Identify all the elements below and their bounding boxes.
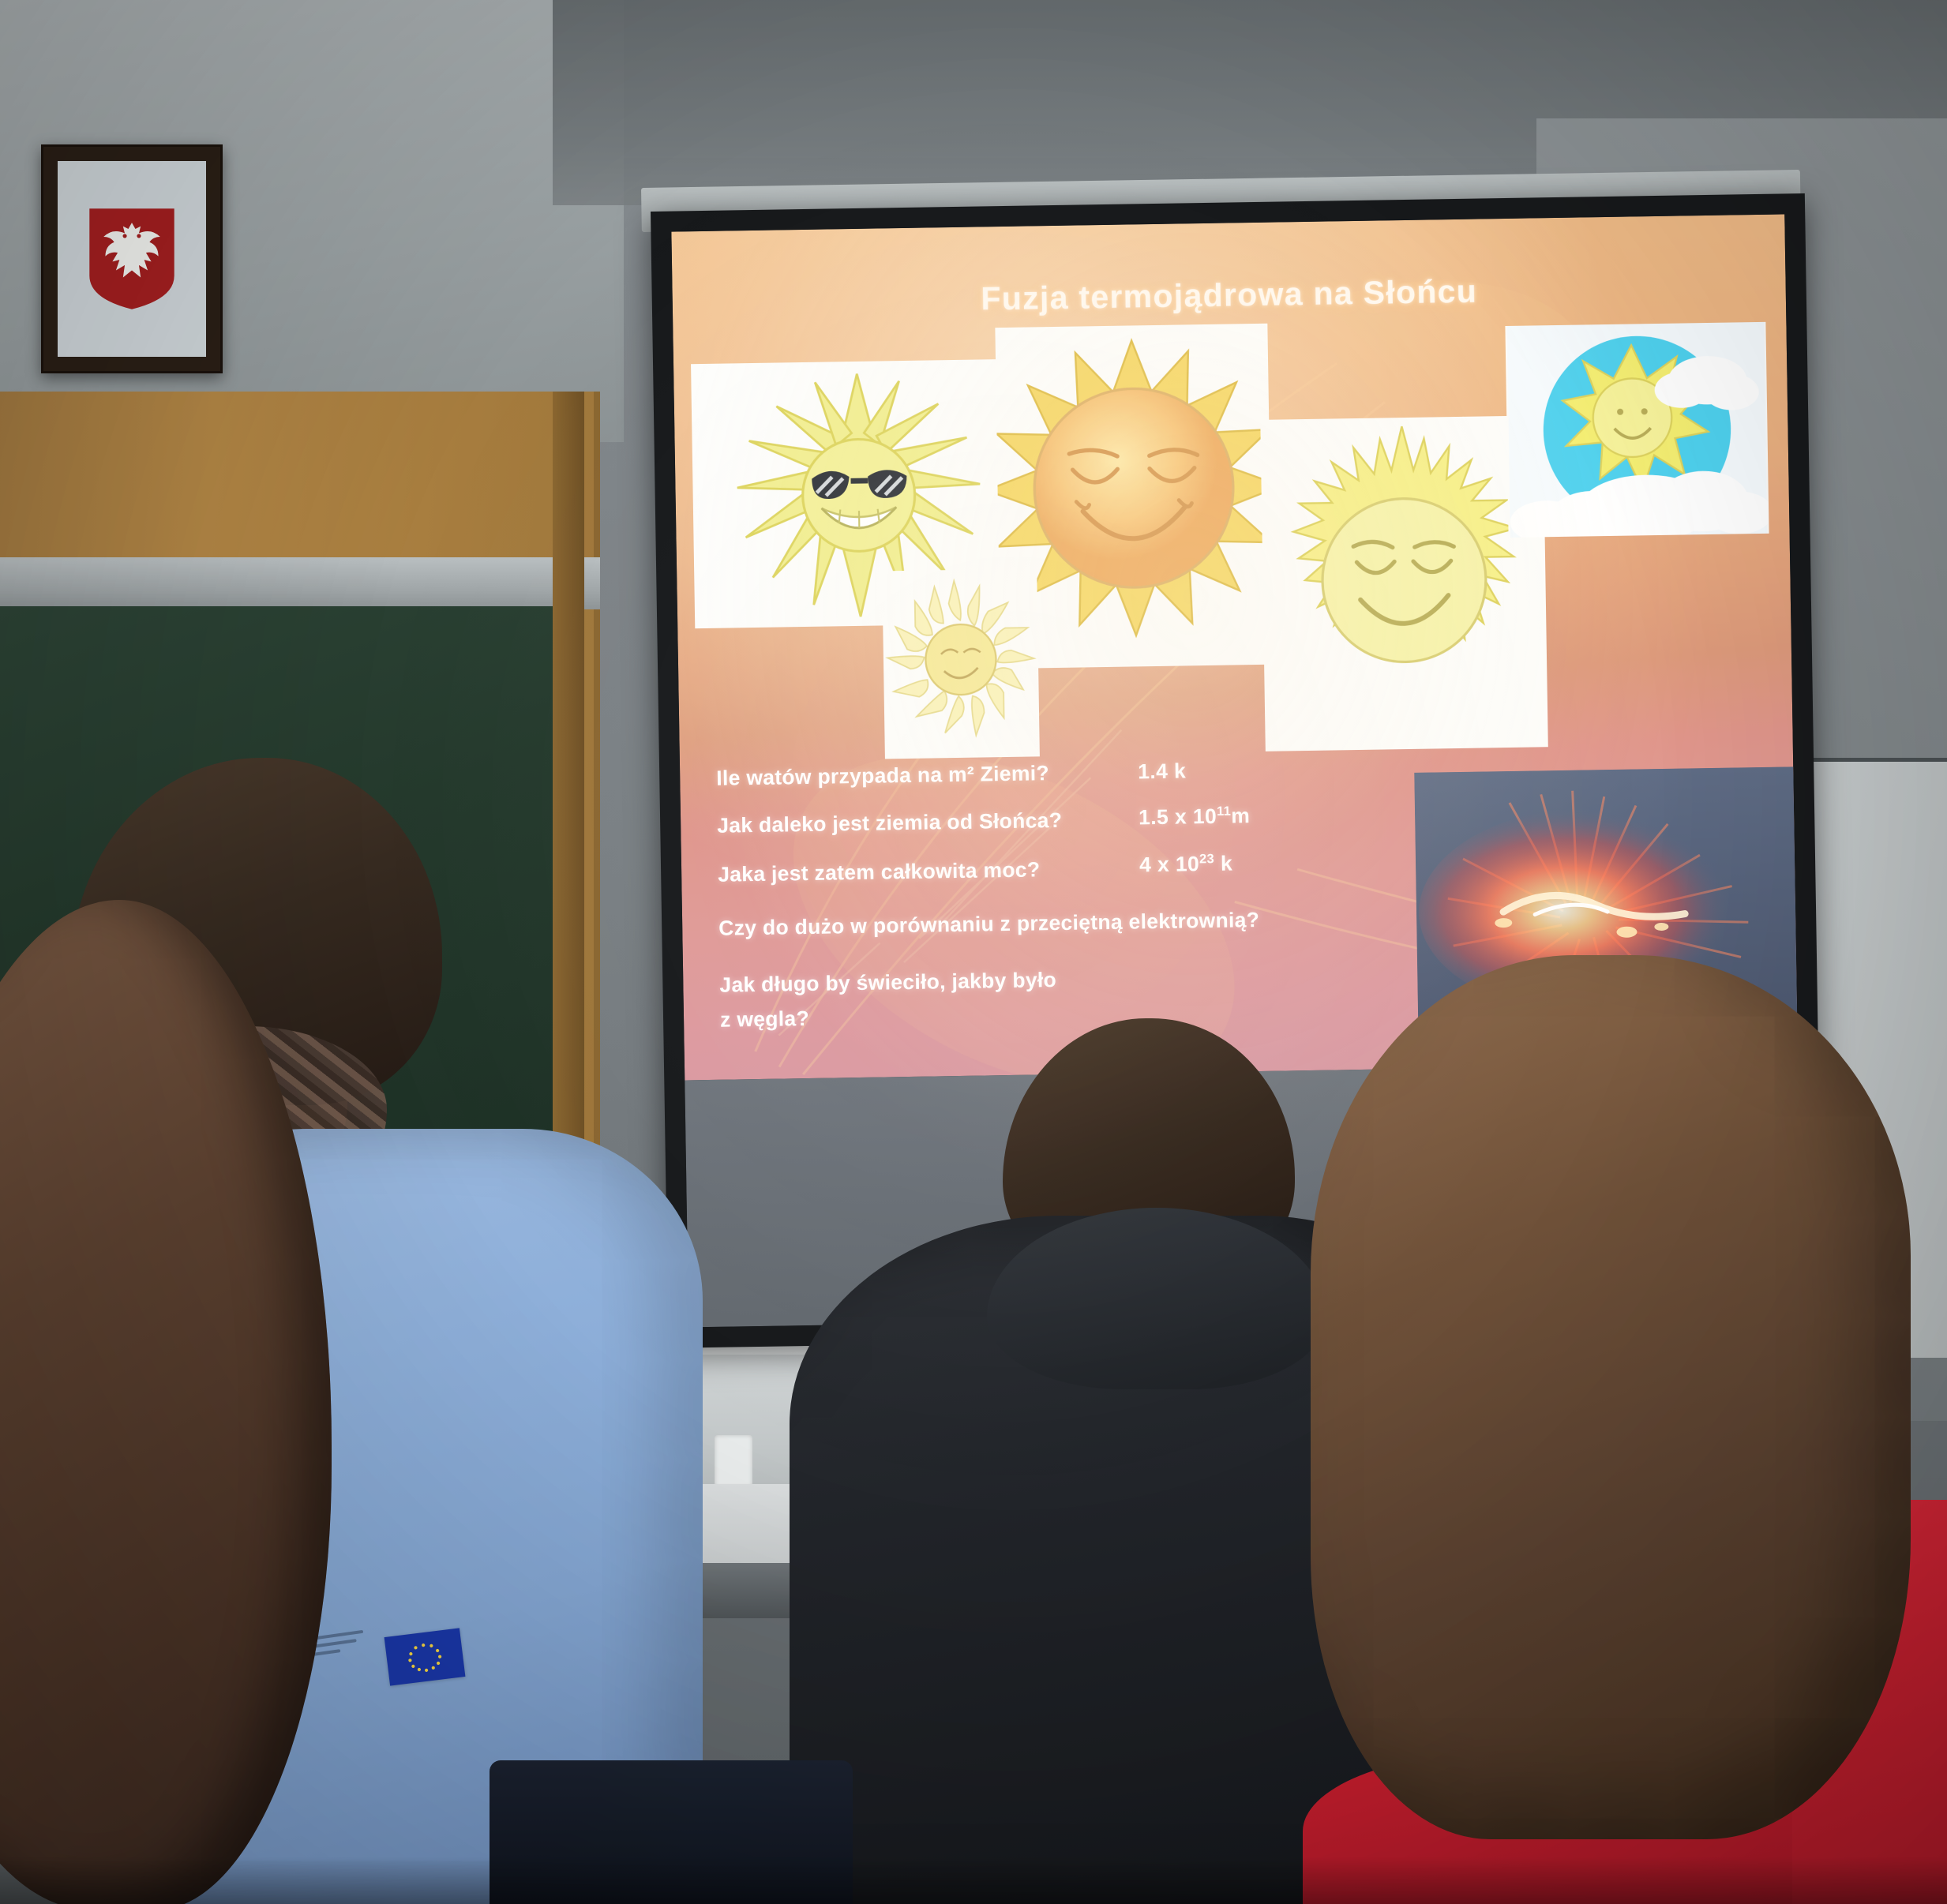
classroom-photo-scene: Fuzja termojądrowa na Słońcu [0, 0, 1947, 1904]
hair [1311, 955, 1911, 1839]
eu-stars [385, 1628, 466, 1685]
sun-spiky-smiling-icon [1260, 415, 1548, 751]
chalkboard-top-rail [0, 557, 600, 609]
qa-question-5: Jak długo by świeciło, jakby było [719, 968, 1056, 998]
sun-sketch-small-icon [882, 568, 1040, 759]
qa-question-3: Jaka jest zatem całkowita moc? [718, 857, 1041, 886]
qa-answer-2: 1.5 x 1011m [1139, 804, 1251, 830]
polish-eagle-icon [88, 207, 176, 311]
foreground-shadow [0, 1857, 1947, 1904]
clipart-sun-spiky-smiling [1260, 415, 1548, 751]
qa-question-4: Czy do dużo w porównaniu z przeciętną el… [718, 908, 1259, 941]
european-union-flag-icon [385, 1628, 466, 1685]
sun-blue-sky-clouds-icon [1505, 322, 1769, 538]
power-outlet [715, 1435, 752, 1487]
student-red-sweater [1311, 955, 1947, 1904]
qa-question-1: Ile watów przypada na m² Ziemi? [716, 761, 1049, 791]
qa-question-2: Jak daleko jest ziemia od Słońca? [717, 808, 1062, 838]
qa-answer-1: 1.4 k [1138, 759, 1186, 784]
clipart-sun-sketch-small [882, 568, 1040, 759]
framed-polish-coat-of-arms [41, 144, 223, 373]
student-left-girl [0, 900, 332, 1904]
presentation-slide: Fuzja termojądrowa na Słońcu [671, 214, 1798, 1080]
qa-answer-3: 4 x 1023 k [1139, 852, 1233, 878]
hair [0, 900, 332, 1904]
clipart-sun-blue-sky-clouds [1505, 322, 1769, 538]
